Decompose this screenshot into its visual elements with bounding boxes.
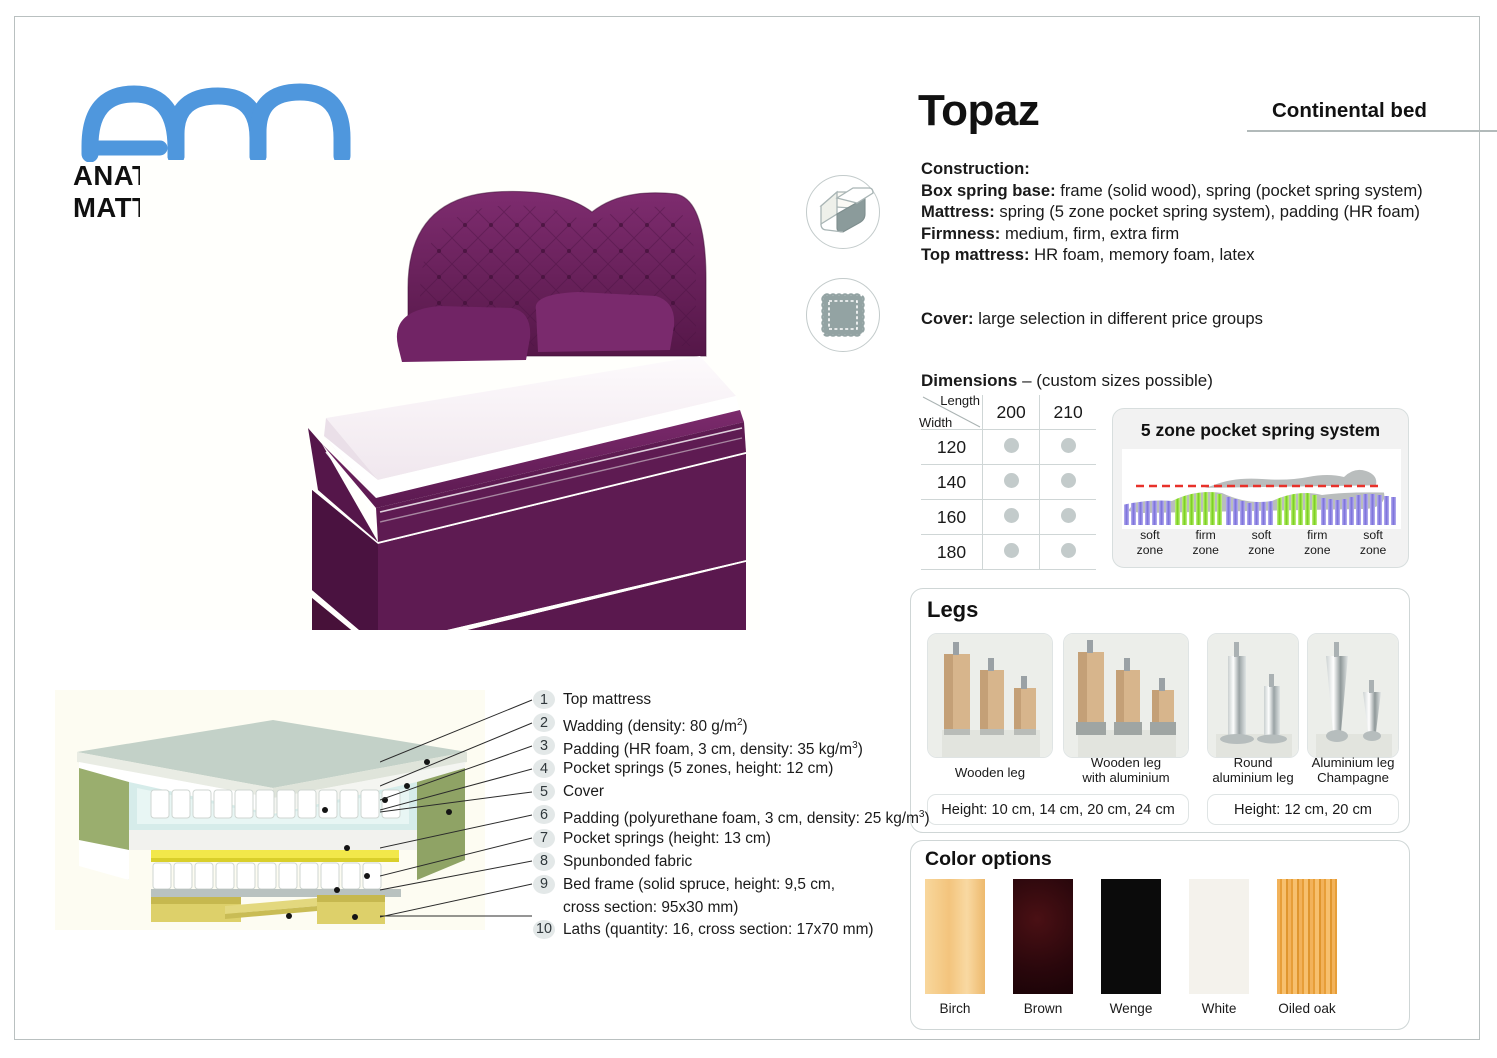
availability-dot (1004, 543, 1019, 558)
legend-number: 5 (533, 782, 555, 801)
table-row: 180 (921, 535, 1096, 570)
color-swatch-birch[interactable]: Birch (925, 879, 985, 1016)
legend-label-continuation: cross section: 95x30 mm) (563, 898, 933, 917)
leg-caption-wooden: Wooden leg (927, 765, 1053, 780)
availability-dot (1004, 473, 1019, 488)
category-rule (1247, 130, 1497, 132)
swatch-label: Oiled oak (1277, 1001, 1337, 1016)
spring-zone-graphic (1122, 449, 1401, 529)
color-swatch-list: Birch Brown Wenge White Oiled oak (925, 879, 1337, 1016)
availability-dot (1061, 508, 1076, 523)
availability-dot (1004, 508, 1019, 523)
swatch-label: Wenge (1101, 1001, 1161, 1016)
legend-number: 10 (533, 920, 555, 939)
swatch-label: Brown (1013, 1001, 1073, 1016)
body-on-springs-icon (1122, 449, 1401, 529)
legend-label: Wadding (density: 80 g/m2) (563, 713, 748, 736)
wooden-leg-icon (928, 634, 1053, 758)
color-options-title: Color options (925, 848, 1052, 871)
leg-card-wooden (927, 633, 1053, 758)
width-row-120: 120 (921, 430, 983, 465)
cover-icon (806, 278, 880, 352)
swatch-chip (925, 879, 985, 994)
avail-160-210 (1040, 500, 1096, 535)
color-swatch-brown[interactable]: Brown (1013, 879, 1073, 1016)
spring-zone-labels: softzone firmzone softzone firmzone soft… (1122, 528, 1401, 557)
legend-leader-lines (380, 688, 555, 923)
construction-spec: Construction: Box spring base: frame (so… (921, 158, 1481, 266)
availability-dot (1004, 438, 1019, 453)
legend-label: Pocket springs (5 zones, height: 12 cm) (563, 759, 833, 778)
spec-row-top-mattress: Top mattress: HR foam, memory foam, late… (921, 244, 1481, 266)
legs-title: Legs (927, 597, 978, 623)
length-col-210: 210 (1040, 395, 1096, 430)
list-item: 9 Bed frame (solid spruce, height: 9,5 c… (533, 875, 933, 898)
wooden-leg-aluminium-icon (1064, 634, 1189, 758)
availability-dot (1061, 438, 1076, 453)
legend-label: Cover (563, 782, 604, 801)
dimensions-title: Dimensions – (custom sizes possible) (921, 371, 1213, 391)
legend-number: 1 (533, 690, 555, 709)
zone-label-soft-1: softzone (1122, 528, 1178, 557)
round-aluminium-leg-icon (1208, 634, 1299, 758)
swatch-chip (1013, 879, 1073, 994)
avail-160-200 (983, 500, 1040, 535)
leg-card-aluminium-champagne (1307, 633, 1399, 758)
construction-heading: Construction: (921, 158, 1481, 180)
am-arch-logo-icon (72, 82, 372, 162)
product-photo (140, 160, 760, 630)
legend-label: Top mattress (563, 690, 651, 709)
legend-number: 9 (533, 875, 555, 894)
spec-row-firmness: Firmness: medium, firm, extra firm (921, 223, 1481, 245)
aluminium-leg-champagne-icon (1308, 634, 1399, 758)
list-item: 8 Spunbonded fabric (533, 852, 933, 875)
list-item: 5 Cover (533, 782, 933, 805)
leg-card-round-aluminium (1207, 633, 1299, 758)
avail-120-210 (1040, 430, 1096, 465)
width-row-140: 140 (921, 465, 983, 500)
list-item: 3 Padding (HR foam, 3 cm, density: 35 kg… (533, 736, 933, 759)
layer-legend: 1 Top mattress 2 Wadding (density: 80 g/… (533, 690, 933, 943)
zone-label-soft-2: softzone (1234, 528, 1290, 557)
list-item: 7 Pocket springs (height: 13 cm) (533, 829, 933, 852)
color-swatch-white[interactable]: White (1189, 879, 1249, 1016)
construction-icon (806, 175, 880, 249)
table-row: 140 (921, 465, 1096, 500)
legend-label: Pocket springs (height: 13 cm) (563, 829, 771, 848)
color-swatch-oiled-oak[interactable]: Oiled oak (1277, 879, 1337, 1016)
color-options-panel: Color options Birch Brown Wenge White Oi… (910, 840, 1410, 1030)
list-item: 6 Padding (polyurethane foam, 3 cm, dens… (533, 805, 933, 828)
length-col-200: 200 (983, 395, 1040, 430)
corner-width-label: Width (919, 415, 952, 430)
datasheet-page: ANATOMIC MATTRESS (0, 0, 1497, 1058)
list-item: 4 Pocket springs (5 zones, height: 12 cm… (533, 759, 933, 782)
list-item: 2 Wadding (density: 80 g/m2) (533, 713, 933, 736)
table-row: 160 (921, 500, 1096, 535)
legend-label: Laths (quantity: 16, cross section: 17x7… (563, 920, 874, 939)
width-row-180: 180 (921, 535, 983, 570)
zone-label-firm-2: firmzone (1289, 528, 1345, 557)
legend-number: 7 (533, 829, 555, 848)
list-item: 10 Laths (quantity: 16, cross section: 1… (533, 920, 933, 943)
list-item: 1 Top mattress (533, 690, 933, 713)
legs-panel: Legs (910, 588, 1410, 833)
legend-number: 3 (533, 736, 555, 755)
avail-140-200 (983, 465, 1040, 500)
leg-caption-aluminium-champagne: Aluminium legChampagne (1303, 755, 1403, 786)
avail-120-200 (983, 430, 1040, 465)
leg-card-wooden-aluminium (1063, 633, 1189, 758)
width-row-160: 160 (921, 500, 983, 535)
availability-dot (1061, 473, 1076, 488)
legend-number: 8 (533, 852, 555, 871)
swatch-label: White (1189, 1001, 1249, 1016)
spring-system-panel: 5 zone pocket spring system (1112, 408, 1409, 568)
page-title: Topaz (918, 86, 1039, 136)
spring-system-title: 5 zone pocket spring system (1113, 420, 1408, 441)
height-metal-legs: Height: 12 cm, 20 cm (1207, 794, 1399, 825)
table-header-row: Length Width 200 210 (921, 395, 1096, 430)
leg-caption-wooden-aluminium: Wooden legwith aluminium (1063, 755, 1189, 786)
purple-tufted-continental-bed-image (140, 160, 760, 630)
color-swatch-wenge[interactable]: Wenge (1101, 879, 1161, 1016)
spec-row-mattress: Mattress: spring (5 zone pocket spring s… (921, 201, 1481, 223)
spec-row-box-spring-base: Box spring base: frame (solid wood), spr… (921, 180, 1481, 202)
height-wooden-legs: Height: 10 cm, 14 cm, 20 cm, 24 cm (927, 794, 1189, 825)
zone-label-soft-3: softzone (1345, 528, 1401, 557)
swatch-chip (1101, 879, 1161, 994)
dimensions-table: Length Width 200 210 120 140 160 (921, 395, 1096, 570)
legend-label: Padding (polyurethane foam, 3 cm, densit… (563, 805, 930, 828)
cover-spec: Cover: large selection in different pric… (921, 309, 1263, 329)
avail-180-200 (983, 535, 1040, 570)
swatch-label: Birch (925, 1001, 985, 1016)
table-row: 120 (921, 430, 1096, 465)
legend-label: Padding (HR foam, 3 cm, density: 35 kg/m… (563, 736, 863, 759)
table-corner-cell: Length Width (921, 395, 983, 430)
avail-140-210 (1040, 465, 1096, 500)
avail-180-210 (1040, 535, 1096, 570)
swatch-chip (1189, 879, 1249, 994)
legend-number: 2 (533, 713, 555, 732)
zone-label-firm-1: firmzone (1178, 528, 1234, 557)
leg-caption-round-aluminium: Roundaluminium leg (1203, 755, 1303, 786)
swatch-chip (1277, 879, 1337, 994)
legend-label: Bed frame (solid spruce, height: 9,5 cm, (563, 875, 835, 894)
product-category: Continental bed (1272, 99, 1427, 123)
corner-length-label: Length (940, 393, 980, 408)
legend-label: Spunbonded fabric (563, 852, 692, 871)
legend-number: 4 (533, 759, 555, 778)
legend-number: 6 (533, 805, 555, 824)
leader-lines-icon (380, 688, 555, 923)
availability-dot (1061, 543, 1076, 558)
